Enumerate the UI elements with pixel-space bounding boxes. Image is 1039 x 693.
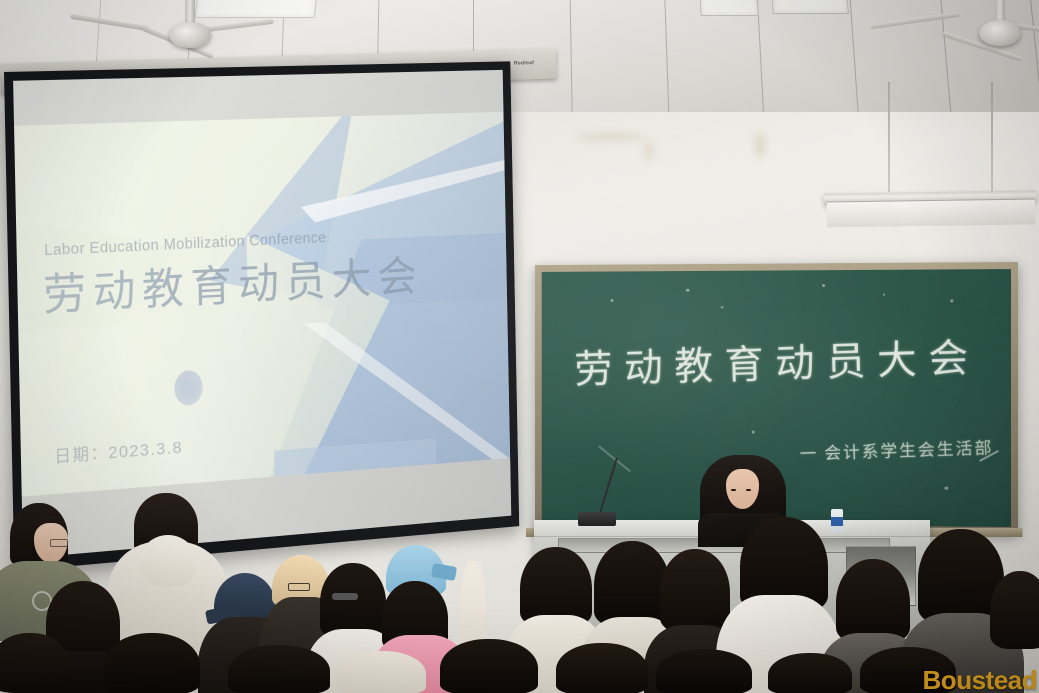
student-head bbox=[660, 549, 730, 633]
school-emblem-icon bbox=[174, 369, 203, 406]
student-head bbox=[228, 645, 330, 693]
student-head bbox=[320, 563, 386, 639]
student-head bbox=[0, 633, 70, 693]
eyeglasses bbox=[288, 583, 310, 591]
hair-clip bbox=[332, 593, 358, 600]
student-head bbox=[338, 651, 426, 693]
student-head bbox=[104, 633, 200, 693]
hood bbox=[140, 535, 196, 587]
student-head bbox=[836, 559, 910, 643]
student-head bbox=[556, 643, 648, 693]
watermark: Boustead bbox=[923, 665, 1037, 693]
student-head bbox=[656, 649, 752, 693]
blackboard-title: 劳动教育动员大会 bbox=[574, 325, 981, 395]
housing-brand-label: Redleaf bbox=[514, 60, 534, 67]
audience: ezdating bbox=[0, 483, 1039, 693]
presentation-slide: Labor Education Mobilization Conference … bbox=[14, 112, 510, 497]
blackboard-subtitle: 一 会计系学生会生活部 bbox=[799, 434, 993, 465]
ceiling-fan bbox=[130, 0, 250, 60]
classroom-photo: Redleaf Labor Education Mobilization Con… bbox=[0, 0, 1039, 693]
student-head bbox=[440, 639, 538, 693]
ceiling-fan bbox=[940, 0, 1039, 60]
student-head bbox=[768, 653, 852, 693]
student-head bbox=[990, 571, 1039, 649]
student-head bbox=[594, 541, 670, 627]
slide-date: 日期：2023.3.8 bbox=[54, 433, 183, 467]
eyeglasses bbox=[50, 539, 68, 547]
